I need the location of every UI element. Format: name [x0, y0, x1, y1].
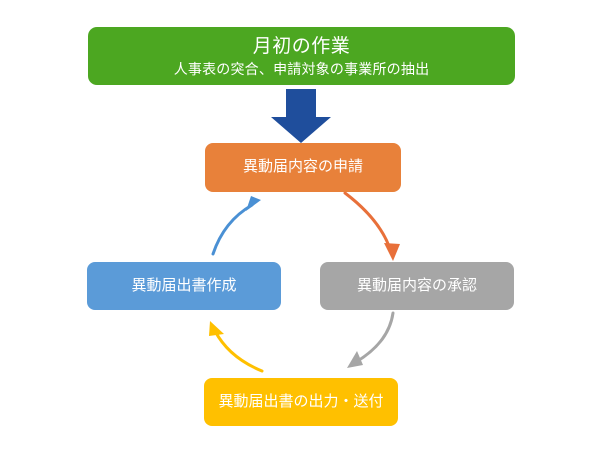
curved-arrow-down-left: [347, 313, 393, 368]
node-output-send[interactable]: 異動届出書の出力・送付: [204, 378, 398, 426]
curved-arrow-up-right: [213, 196, 261, 254]
curved-arrow-up-left: [209, 321, 262, 371]
workflow-diagram: 月初の作業 人事表の突合、申請対象の事業所の抽出 異動届内容の申請 異動届内容の…: [0, 0, 600, 450]
node-apply[interactable]: 異動届内容の申請: [205, 143, 401, 192]
node-month-start-title: 月初の作業: [253, 35, 351, 59]
node-month-start[interactable]: 月初の作業 人事表の突合、申請対象の事業所の抽出: [88, 27, 515, 85]
node-month-start-subtitle: 人事表の突合、申請対象の事業所の抽出: [174, 61, 430, 79]
down-block-arrow: [271, 89, 331, 143]
curved-arrow-right-down: [345, 193, 400, 261]
node-approve-label: 異動届内容の承認: [357, 277, 477, 296]
node-create-doc[interactable]: 異動届出書作成: [87, 262, 281, 310]
node-apply-label: 異動届内容の申請: [243, 158, 363, 177]
node-output-send-label: 異動届出書の出力・送付: [218, 393, 383, 412]
node-approve[interactable]: 異動届内容の承認: [320, 262, 514, 310]
node-create-doc-label: 異動届出書作成: [131, 277, 236, 296]
